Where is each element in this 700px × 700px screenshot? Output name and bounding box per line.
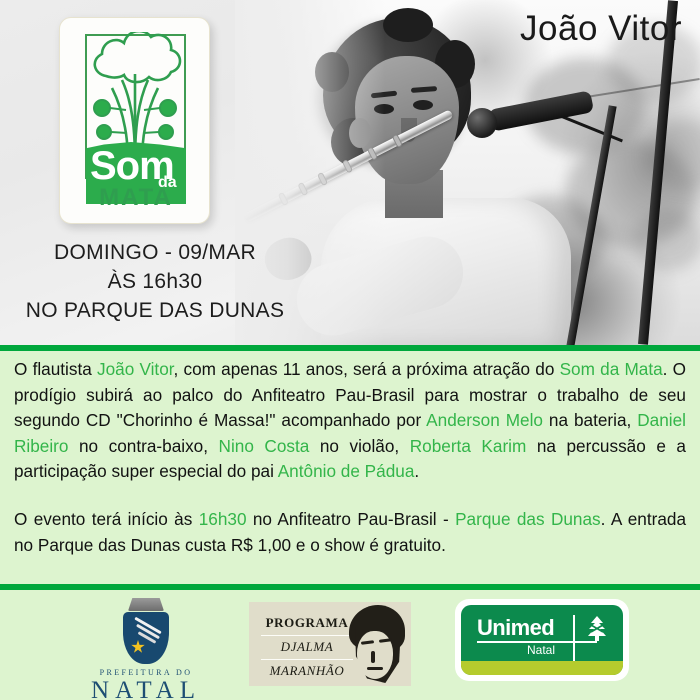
unimed-city: Natal	[527, 643, 555, 657]
unimed-natal-logo: Unimed Natal	[455, 599, 629, 681]
microphone-body	[488, 90, 594, 131]
flute-key	[392, 134, 403, 148]
crown-icon	[128, 598, 164, 611]
text-run: .	[414, 461, 419, 481]
text-run: no violão,	[309, 436, 409, 456]
logo-mata-text: MATA	[88, 184, 184, 212]
microphone-stand	[565, 105, 616, 345]
hair-tuft-icon	[383, 8, 433, 42]
portrait-mouth	[367, 667, 383, 670]
sponsors-section: PREFEITURA DO NATAL A NOSSA CIDADE PROGR…	[0, 584, 700, 700]
text-run: O evento terá início às	[14, 509, 199, 529]
event-poster: João Vitor	[0, 0, 700, 700]
djalma-line-3: MARANHÃO	[261, 663, 353, 679]
eye-right	[413, 100, 433, 110]
highlight-time: 16h30	[199, 509, 247, 529]
prefeitura-natal-logo: PREFEITURA DO NATAL A NOSSA CIDADE	[88, 598, 204, 700]
highlight-nino-costa: Nino Costa	[219, 436, 310, 456]
portrait-icon	[345, 603, 409, 685]
highlight-parque-das-dunas: Parque das Dunas	[455, 509, 601, 529]
shield-icon	[123, 612, 169, 664]
portrait-nose	[371, 651, 375, 663]
divider	[261, 635, 353, 636]
programa-djalma-maranhao-logo: PROGRAMA DJALMA MARANHÃO	[249, 602, 411, 686]
text-run: na bateria,	[543, 410, 637, 430]
description-copy: O flautista João Vitor, com apenas 11 an…	[14, 357, 686, 558]
paragraph-2: O evento terá início às 16h30 no Anfitea…	[14, 507, 686, 558]
highlight-joao-vitor: João Vitor	[97, 359, 174, 379]
description-section: O flautista João Vitor, com apenas 11 an…	[0, 345, 700, 584]
djalma-line-2: DJALMA	[261, 639, 353, 655]
highlight-roberta-karim: Roberta Karim	[410, 436, 527, 456]
event-time: ÀS 16h30	[0, 267, 310, 296]
event-details: DOMINGO - 09/MAR ÀS 16h30 NO PARQUE DAS …	[0, 238, 310, 325]
highlight-som-da-mata: Som da Mata	[560, 359, 663, 379]
event-venue: NO PARQUE DAS DUNAS	[0, 296, 310, 325]
unimed-wordmark: Unimed	[477, 615, 554, 641]
event-date: DOMINGO - 09/MAR	[0, 238, 310, 267]
text-run: , com apenas 11 anos, será a próxima atr…	[174, 359, 560, 379]
paragraph-1: O flautista João Vitor, com apenas 11 an…	[14, 357, 686, 485]
natal-prefeitura-label: PREFEITURA DO	[88, 668, 204, 677]
star-icon	[131, 640, 145, 654]
divider	[573, 615, 575, 661]
highlight-anderson-melo: Anderson Melo	[426, 410, 543, 430]
microphone-icon	[467, 108, 497, 138]
unimed-symbol-icon	[583, 616, 611, 642]
djalma-line-1: PROGRAMA	[261, 615, 353, 631]
page-title: João Vitor	[520, 9, 682, 49]
natal-name: NATAL	[88, 677, 204, 700]
som-da-mata-logo: Som da MATA	[59, 17, 210, 224]
text-run: no Anfiteatro Pau-Brasil -	[247, 509, 456, 529]
hero-section: João Vitor	[0, 0, 700, 345]
highlight-antonio-de-padua: Antônio de Pádua	[278, 461, 415, 481]
unimed-accent-bar	[461, 661, 623, 675]
text-run: O flautista	[14, 359, 97, 379]
divider	[261, 659, 353, 660]
text-run: no contra-baixo,	[68, 436, 218, 456]
